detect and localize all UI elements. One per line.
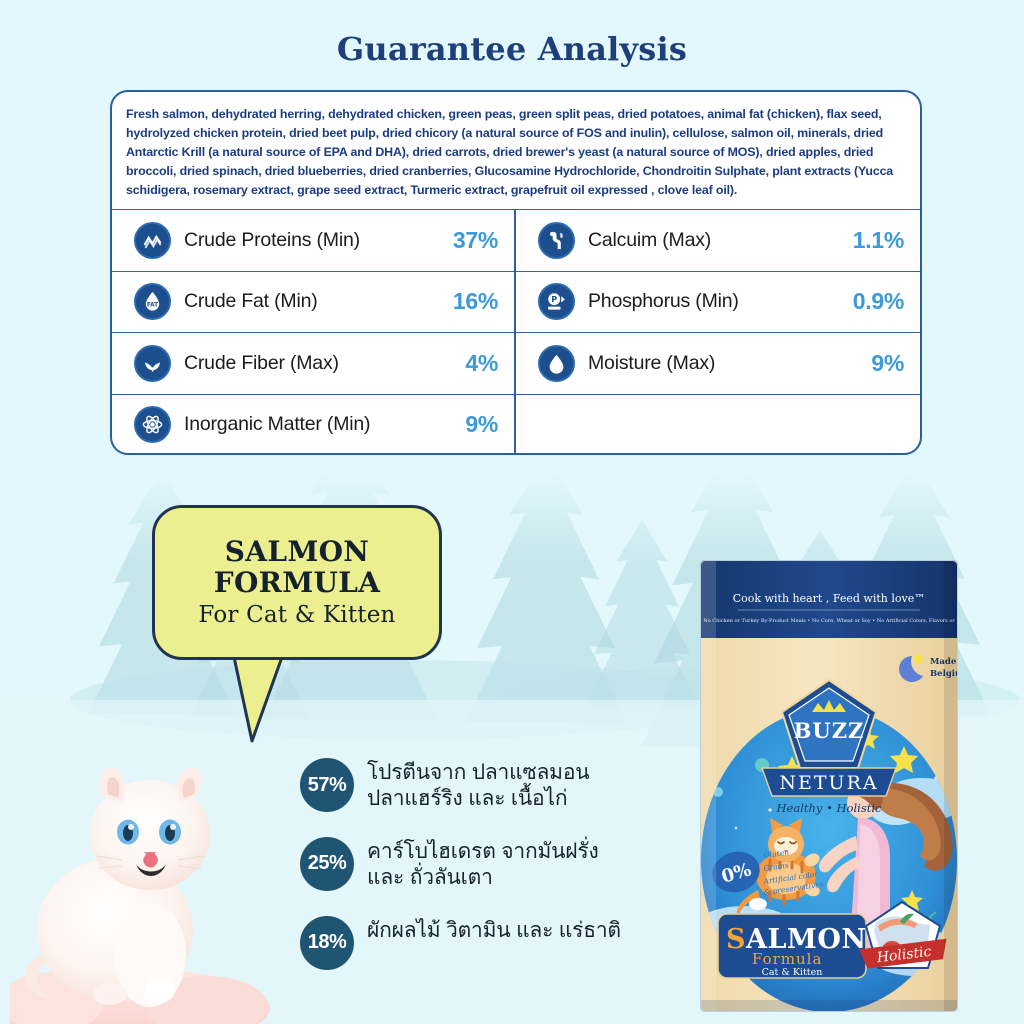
bubble-line-salmon: SALMON [225, 537, 369, 567]
bag-tagline: Cook with heart , Feed with love™ [733, 592, 925, 605]
table-row: FAT Crude Fat (Min) 16% [112, 271, 514, 333]
list-item: 18% ผักผลไม้ วิตามิน และ แร่ธาติ [300, 916, 700, 970]
stat-percent-badge: 57% [300, 758, 354, 812]
bubble-line-for-cat-kitten: For Cat & Kitten [198, 602, 395, 628]
bag-claims: Grain Free • No Chicken or Turkey By-Pro… [700, 618, 958, 624]
nutrition-column-left: Crude Proteins (Min) 37% FAT Crude Fat (… [112, 209, 516, 455]
bubble-line-formula: FORMULA [214, 568, 380, 598]
nutrient-label: Calcuim (Max) [588, 229, 853, 252]
page-title: Guarantee Analysis [0, 30, 1024, 68]
nutrient-value: 37% [453, 227, 498, 254]
nutrient-value: 4% [465, 350, 498, 377]
table-row: P Phosphorus (Min) 0.9% [516, 271, 920, 333]
nutrient-label: Phosphorus (Min) [588, 290, 853, 313]
list-item: 57% โปรตีนจาก ปลาแซลมอน ปลาแฮร์ริง และ เ… [300, 758, 700, 813]
protein-icon [134, 222, 171, 259]
table-row: Crude Fiber (Max) 4% [112, 332, 514, 394]
product-bag-image: Cook with heart , Feed with love™ Grain … [700, 560, 958, 1012]
nutrient-label: Moisture (Max) [588, 352, 871, 375]
bone-calcium-icon [538, 222, 575, 259]
svg-text:NETURA: NETURA [779, 772, 878, 794]
nutrient-value: 1.1% [853, 227, 904, 254]
table-row: Moisture (Max) 9% [516, 332, 920, 394]
nutrition-column-right: Calcuim (Max) 1.1% P Phosphorus (Min) 0.… [516, 209, 920, 455]
speech-bubble-tail [230, 655, 290, 745]
nutrition-table: Crude Proteins (Min) 37% FAT Crude Fat (… [112, 209, 920, 455]
stat-line-1: ผักผลไม้ วิตามิน และ แร่ธาติ [367, 919, 621, 942]
svg-text:Healthy • Holistic: Healthy • Holistic [776, 801, 882, 815]
svg-text:Cat & Kitten: Cat & Kitten [762, 967, 823, 978]
nutrient-label: Crude Fiber (Max) [184, 352, 465, 375]
nutrient-value: 16% [453, 288, 498, 315]
nutrient-value: 9% [871, 350, 904, 377]
table-row: Crude Proteins (Min) 37% [112, 209, 514, 271]
phosphorus-icon: P [538, 283, 575, 320]
salmon-formula-callout: SALMON FORMULA For Cat & Kitten [152, 505, 442, 660]
speech-bubble: SALMON FORMULA For Cat & Kitten [152, 505, 442, 660]
flavor-label: SALMON Formula Cat & Kitten [718, 914, 867, 978]
guarantee-analysis-card: Fresh salmon, dehydrated herring, dehydr… [110, 90, 922, 455]
atom-mineral-icon [134, 406, 171, 443]
nutrition-highlights-list: 57% โปรตีนจาก ปลาแซลมอน ปลาแฮร์ริง และ เ… [300, 758, 700, 994]
nutrient-value: 0.9% [853, 288, 904, 315]
stat-description: คาร์โบไฮเดรต จากมันฝรั่ง และ ถั่วลันเตา [367, 837, 599, 892]
list-item: 25% คาร์โบไฮเดรต จากมันฝรั่ง และ ถั่วลัน… [300, 837, 700, 892]
nutrient-label: Inorganic Matter (Min) [184, 413, 465, 436]
stat-description: ผักผลไม้ วิตามิน และ แร่ธาติ [367, 916, 621, 944]
table-row-empty [516, 394, 920, 456]
stat-percent-badge: 25% [300, 837, 354, 891]
nutrient-label: Crude Proteins (Min) [184, 229, 453, 252]
stat-description: โปรตีนจาก ปลาแซลมอน ปลาแฮร์ริง และ เนื้อ… [367, 758, 589, 813]
moisture-drop-icon [538, 345, 575, 382]
svg-text:FAT: FAT [147, 303, 158, 309]
stat-line-1: คาร์โบไฮเดรต จากมันฝรั่ง [367, 840, 599, 863]
nutrient-value: 9% [465, 411, 498, 438]
svg-text:Formula: Formula [752, 950, 822, 968]
stat-line-2: ปลาแฮร์ริง และ เนื้อไก่ [367, 787, 567, 810]
ingredients-paragraph: Fresh salmon, dehydrated herring, dehydr… [112, 92, 920, 209]
stat-line-1: โปรตีนจาก ปลาแซลมอน [367, 761, 589, 784]
stat-line-2: และ ถั่วลันเตา [367, 866, 493, 889]
leaf-fiber-icon [134, 345, 171, 382]
nutrient-label: Crude Fat (Min) [184, 290, 453, 313]
kitten-photo [10, 740, 320, 1024]
table-row: Inorganic Matter (Min) 9% [112, 394, 514, 456]
svg-text:BUZZ: BUZZ [794, 718, 865, 743]
fat-droplet-icon: FAT [134, 283, 171, 320]
svg-text:P: P [551, 295, 557, 304]
stat-percent-badge: 18% [300, 916, 354, 970]
table-row: Calcuim (Max) 1.1% [516, 209, 920, 271]
